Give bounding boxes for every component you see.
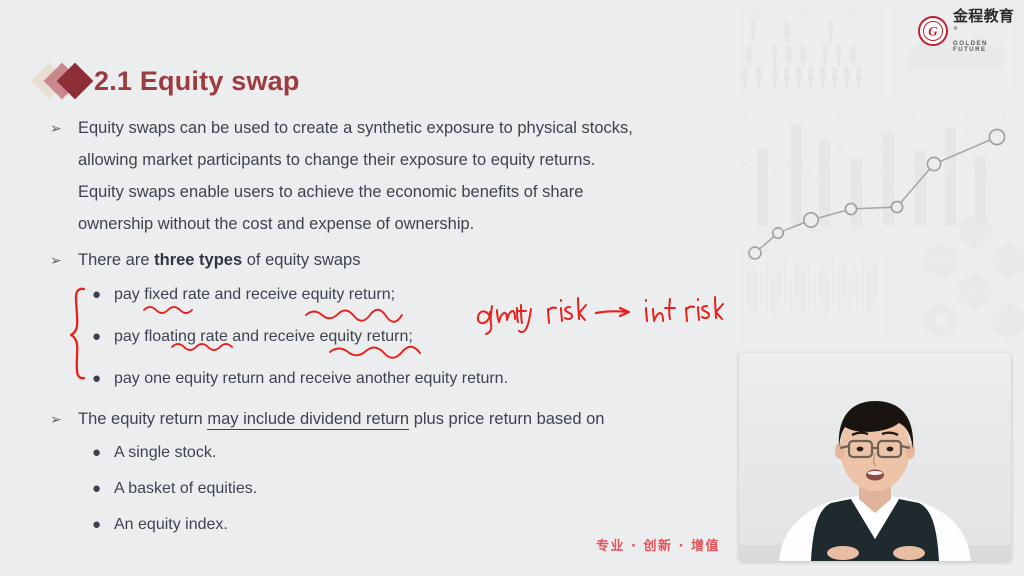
list-item: ● A single stock. [92,437,708,469]
equity-return-suffix: plus price return based on [409,410,604,428]
logo-text: 金程教育® GOLDEN FUTURE [953,9,1018,53]
slide-title-row: 2.1 Equity swap [36,58,300,104]
svg-text:TOP: TOP [737,126,756,136]
three-types-prefix: There are [78,251,154,269]
three-types-emphasis: three types [154,251,242,269]
bullet-intro-line-4: ownership without the cost and expense o… [78,208,708,240]
handwriting-k2 [715,297,723,319]
bullet-item-intro: ➢ Equity swaps can be used to create a s… [48,112,708,240]
swap-types-list: ● pay fixed rate and receive equity retu… [48,279,708,395]
swap-type-3-text: pay one equity return and receive anothe… [114,363,508,395]
list-item: ● pay fixed rate and receive equity retu… [92,279,708,311]
dot-bullet-icon: ● [92,437,114,469]
svg-text:40%: 40% [929,257,951,269]
slide-body: ➢ Equity swaps can be used to create a s… [48,112,708,541]
svg-text:IN SERVICE: IN SERVICE [835,144,888,154]
equity-return-prefix: The equity return [78,410,207,428]
bullet-equity-return-text: The equity return may include dividend r… [78,403,708,435]
three-types-suffix: of equity swaps [242,251,360,269]
swap-type-2-text: pay floating rate and receive equity ret… [114,321,413,353]
svg-text:COMMUNICATION: COMMUNICATION [835,112,915,122]
arrow-bullet-icon: ➢ [48,403,78,435]
list-item: ● pay one equity return and receive anot… [92,363,708,395]
list-item: ● A basket of equities. [92,473,708,505]
registered-mark: ® [953,26,958,32]
equity-return-underlined: may include dividend return [207,410,409,430]
presenter-video-thumbnail[interactable] [739,353,1011,561]
svg-text:72: 72 [966,287,978,299]
svg-text:45%: 45% [749,15,763,22]
bullet-intro-line-1: Equity swaps can be used to create a syn… [78,112,708,144]
brand-logo: G 金程教育® GOLDEN FUTURE [918,13,1018,49]
dot-bullet-icon: ● [92,509,114,541]
swap-type-1-text: pay fixed rate and receive equity return… [114,279,395,311]
bullet-item-three-types: ➢ There are three types of equity swaps [48,244,708,276]
dot-bullet-icon: ● [92,321,114,353]
diamond-decoration-icon [36,61,92,101]
logo-seal-letter: G [920,25,946,38]
dot-bullet-icon: ● [92,279,114,311]
svg-text:67%: 67% [801,15,815,22]
svg-text:IG: IG [737,112,747,122]
arrow-bullet-icon: ➢ [48,244,78,276]
bullet-intro-line-2: allowing market participants to change t… [78,144,708,176]
logo-english-name: GOLDEN FUTURE [953,41,1018,53]
slide-canvas: 45%67%85% [0,0,1024,576]
logo-seal-icon: G [918,16,948,46]
dot-bullet-icon: ● [92,363,114,395]
logo-chinese-name: 金程教育® [953,9,1018,39]
arrow-bullet-icon: ➢ [48,112,78,144]
bullet-intro-line-3: Equity swaps enable users to achieve the… [78,176,708,208]
page-title: 2.1 Equity swap [94,66,300,97]
basis-item-3-text: An equity index. [114,509,228,541]
dot-bullet-icon: ● [92,473,114,505]
svg-text:PROTOCOL: PROTOCOL [835,128,887,138]
basis-item-1-text: A single stock. [114,437,216,469]
svg-text:85%: 85% [847,15,861,22]
svg-text:COMPUTER: COMPUTER [963,112,1016,122]
footer-tagline: 专业 · 创新 · 增值 [596,535,720,554]
bullet-intro-text: Equity swaps can be used to create a syn… [78,112,708,240]
list-item: ● pay floating rate and receive equity r… [92,321,708,353]
equity-return-basis-list: ● A single stock. ● A basket of equities… [48,437,708,541]
bullet-item-equity-return: ➢ The equity return may include dividend… [48,403,708,435]
basis-item-2-text: A basket of equities. [114,473,257,505]
bullet-three-types-text: There are three types of equity swaps [78,244,708,276]
